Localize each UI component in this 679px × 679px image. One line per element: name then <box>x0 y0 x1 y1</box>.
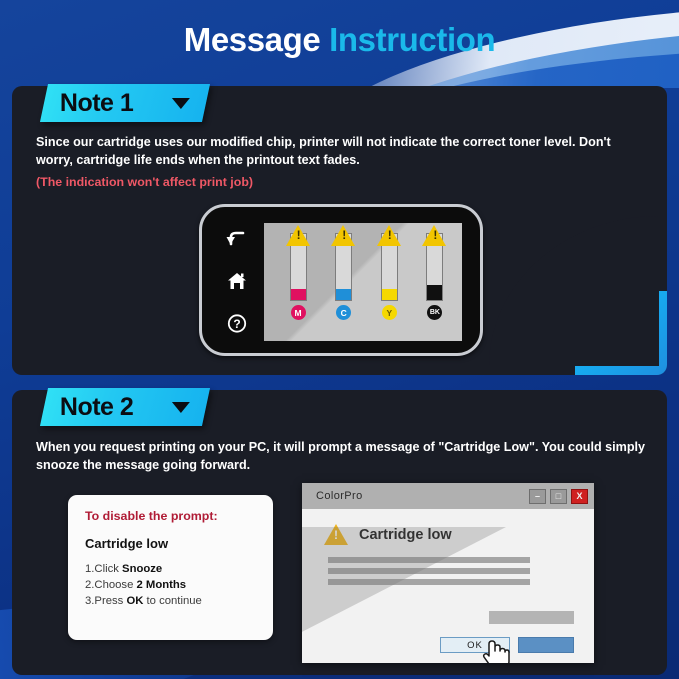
note-2-tab[interactable]: Note 2 <box>40 388 210 426</box>
back-arrow-icon[interactable] <box>226 230 248 250</box>
warning-triangle-icon: ! <box>286 225 310 246</box>
printer-button-column: ? <box>215 219 259 345</box>
toner-color-badge: C <box>336 305 351 320</box>
toner-tube: ! <box>426 233 443 301</box>
card-step: 2.Choose 2 Months <box>85 577 256 593</box>
step-bold: OK <box>126 595 143 607</box>
note-1-body-text: Since our cartridge uses our modified ch… <box>36 133 647 169</box>
step-number: 1. <box>85 563 94 575</box>
step-bold: 2 Months <box>137 579 187 591</box>
warning-exclamation: ! <box>388 229 392 241</box>
note-1-tab[interactable]: Note 1 <box>40 84 210 122</box>
page-title-part1: Message <box>184 21 321 58</box>
toner-fill <box>291 289 306 300</box>
help-icon[interactable]: ? <box>226 313 248 334</box>
hand-pointer-cursor <box>482 636 510 663</box>
close-button[interactable]: X <box>571 489 588 504</box>
toner-item: ! BK <box>416 233 446 320</box>
dialog-button-row: OK <box>302 637 594 653</box>
chevron-down-icon[interactable] <box>172 402 190 413</box>
placeholder-bar <box>328 579 530 585</box>
step-after: to continue <box>143 595 201 607</box>
warning-exclamation: ! <box>342 229 346 241</box>
dialog-message-text: Cartridge low <box>359 527 452 543</box>
toner-tube: ! <box>290 233 307 301</box>
svg-text:?: ? <box>233 317 240 331</box>
card-title: To disable the prompt: <box>85 509 256 523</box>
home-icon[interactable] <box>226 271 248 291</box>
toner-color-badge: Y <box>382 305 397 320</box>
card-step: 1.Click Snooze <box>85 561 256 577</box>
poster-root: Message Instruction Since our cartridge … <box>0 0 679 679</box>
secondary-button[interactable] <box>518 637 574 653</box>
step-text: Click <box>94 563 122 575</box>
toner-item: ! M <box>280 233 310 320</box>
warning-exclamation: ! <box>433 229 437 241</box>
card-step: 3.Press OK to continue <box>85 593 256 609</box>
toner-fill <box>427 285 442 300</box>
window-controls: – □ X <box>529 489 588 504</box>
disable-prompt-card: To disable the prompt: Cartridge low 1.C… <box>68 495 273 640</box>
card-subtitle: Cartridge low <box>85 536 256 551</box>
toner-tube: ! <box>381 233 398 301</box>
dialog-title: ColorPro <box>316 490 363 502</box>
step-text: Press <box>94 595 126 607</box>
placeholder-bar <box>328 568 530 574</box>
note-1-panel: Since our cartridge uses our modified ch… <box>12 86 667 375</box>
printer-screen: ! M ! <box>264 223 462 341</box>
toner-color-badge: M <box>291 305 306 320</box>
warning-triangle-icon: ! <box>331 225 355 246</box>
note-1-subtext: (The indication won't affect print job) <box>36 173 647 191</box>
toner-fill <box>382 289 397 300</box>
page-title-part2: Instruction <box>329 21 495 58</box>
chevron-down-icon[interactable] <box>172 98 190 109</box>
toner-item: ! C <box>325 233 355 320</box>
dialog-message-row: ! Cartridge low <box>302 509 594 545</box>
step-bold: Snooze <box>122 563 162 575</box>
toner-fill <box>336 289 351 300</box>
toner-tube: ! <box>335 233 352 301</box>
note-1-body: Since our cartridge uses our modified ch… <box>36 133 647 191</box>
toner-color-badge: BK <box>427 305 442 320</box>
warning-triangle-icon: ! <box>422 225 446 246</box>
warning-triangle-icon: ! <box>324 524 348 545</box>
step-number: 3. <box>85 595 94 607</box>
placeholder-button <box>489 611 574 624</box>
warning-exclamation: ! <box>297 229 301 241</box>
toner-level-group: ! M ! <box>264 223 462 341</box>
minimize-button[interactable]: – <box>529 489 546 504</box>
warning-exclamation: ! <box>334 529 338 541</box>
page-title: Message Instruction <box>0 21 679 59</box>
card-steps: 1.Click Snooze 2.Choose 2 Months 3.Press… <box>85 561 256 609</box>
printer-control-panel: ? ! M <box>199 204 483 356</box>
toner-item: ! Y <box>371 233 401 320</box>
dialog-body: ! Cartridge low OK <box>302 509 594 663</box>
dialog-title-bar[interactable]: ColorPro – □ X <box>302 483 594 509</box>
note-1-tab-label: Note 1 <box>60 89 133 118</box>
maximize-button[interactable]: □ <box>550 489 567 504</box>
note-2-body: When you request printing on your PC, it… <box>36 438 647 474</box>
dialog-placeholder-bars <box>328 557 530 585</box>
page-header: Message Instruction <box>0 0 679 88</box>
step-text: Choose <box>94 579 136 591</box>
cartridge-low-dialog: ColorPro – □ X ! Cartridge low OK <box>302 483 594 663</box>
note-2-tab-label: Note 2 <box>60 393 133 422</box>
warning-triangle-icon: ! <box>377 225 401 246</box>
step-number: 2. <box>85 579 94 591</box>
note-2-body-text: When you request printing on your PC, it… <box>36 438 647 474</box>
placeholder-bar <box>328 557 530 563</box>
